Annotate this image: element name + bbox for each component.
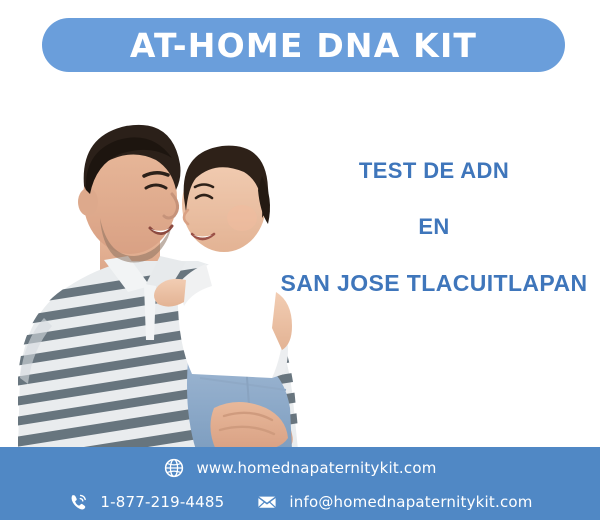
footer-email-item[interactable]: info@homednapaternitykit.com xyxy=(256,491,532,513)
footer-email-label: info@homednapaternitykit.com xyxy=(289,493,532,511)
header-banner: AT-HOME DNA KIT xyxy=(42,18,565,72)
headline-line-en: EN xyxy=(268,216,600,238)
footer-phone-item[interactable]: 1-877-219-4485 xyxy=(67,491,224,513)
headline-line-location: SAN JOSE TLACUITLAPAN xyxy=(268,272,600,295)
headline-block: TEST DE ADN EN SAN JOSE TLACUITLAPAN xyxy=(268,160,600,295)
footer-website-label: www.homednapaternitykit.com xyxy=(196,459,436,477)
footer-website-item[interactable]: www.homednapaternitykit.com xyxy=(163,457,436,479)
poster-canvas: AT-HOME DNA KIT xyxy=(0,0,600,520)
footer-phone-label: 1-877-219-4485 xyxy=(100,493,224,511)
globe-icon xyxy=(163,457,185,479)
envelope-icon xyxy=(256,491,278,513)
footer-contact-bar: www.homednapaternitykit.com 1-877-219-44… xyxy=(0,447,600,520)
page-title: AT-HOME DNA KIT xyxy=(130,29,477,62)
footer-contact-row: 1-877-219-4485 info@homednapaternitykit.… xyxy=(0,485,600,518)
phone-icon xyxy=(67,491,89,513)
headline-line-test-de-adn: TEST DE ADN xyxy=(268,160,600,182)
footer-website-row: www.homednapaternitykit.com xyxy=(0,447,600,485)
